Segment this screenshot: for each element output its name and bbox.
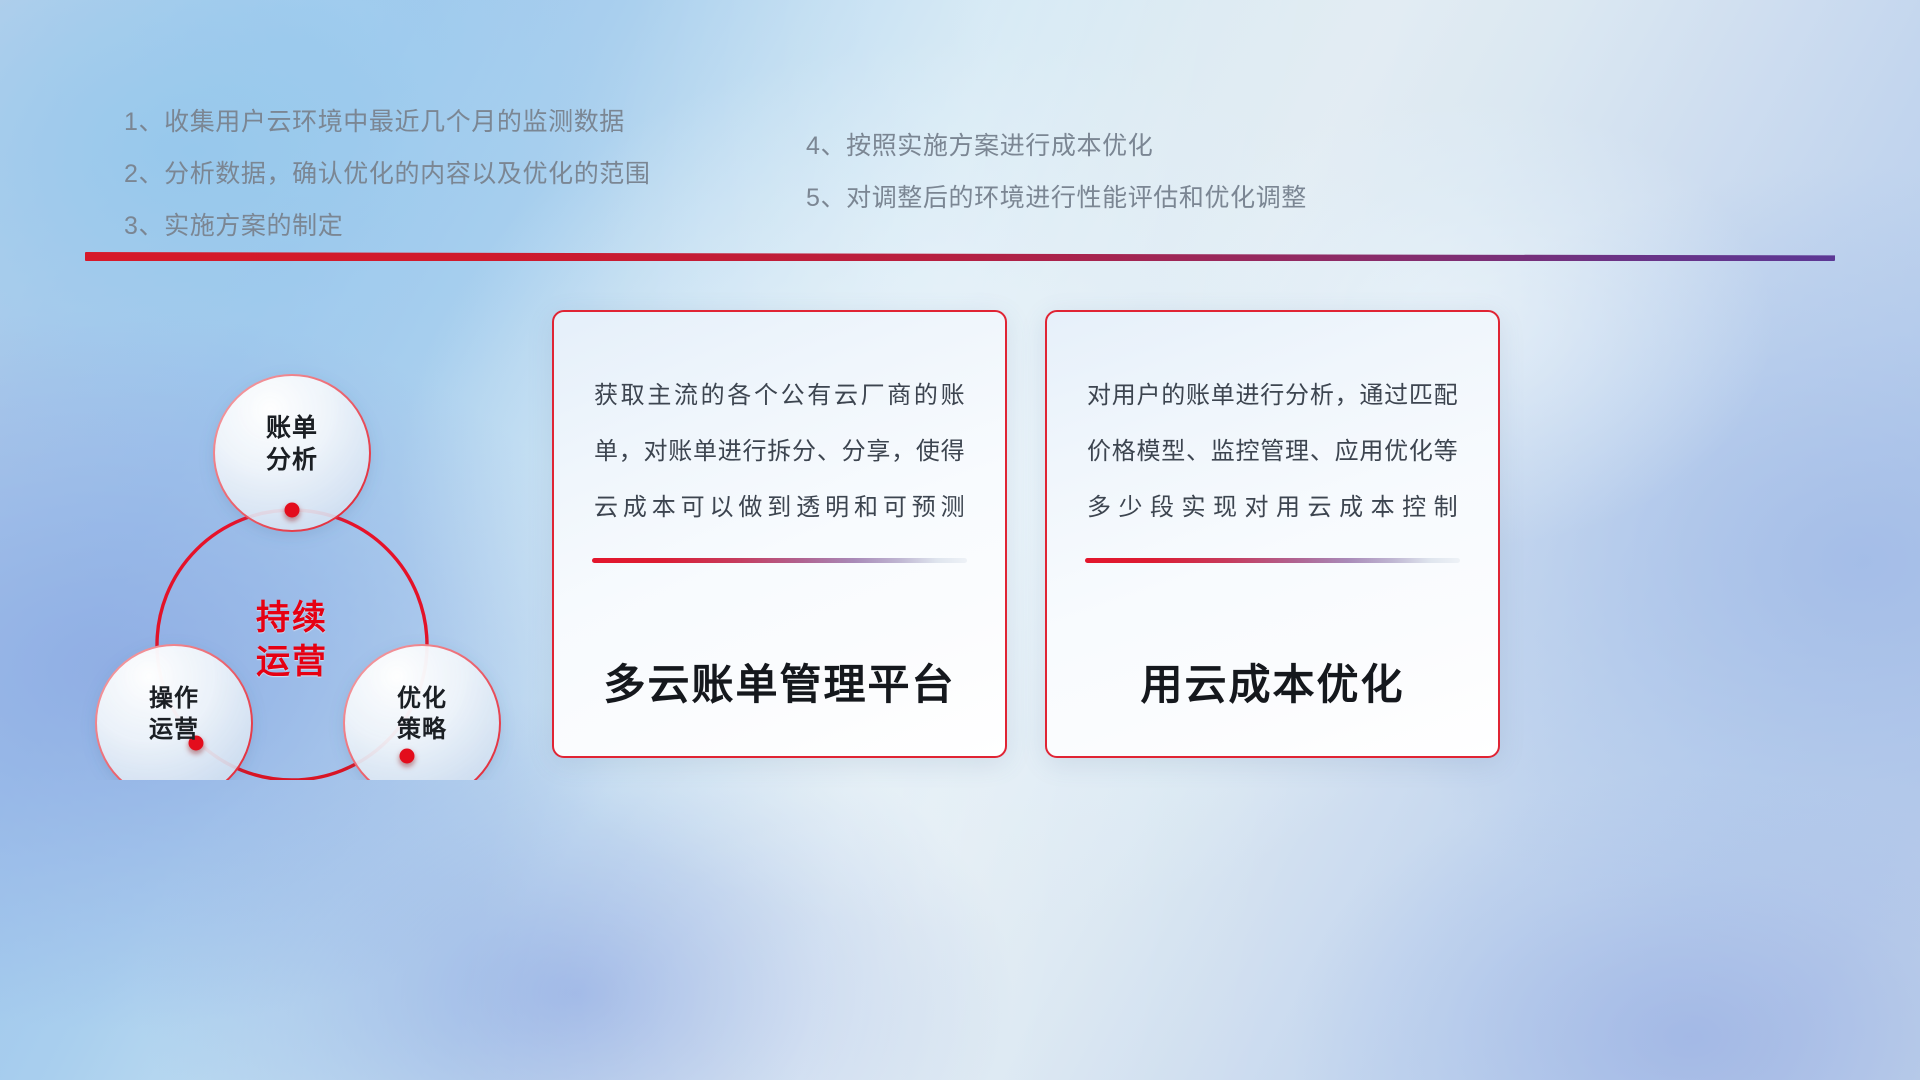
card-accent-rule — [592, 558, 967, 563]
bullet-list-left: 1、收集用户云环境中最近几个月的监测数据 2、分析数据，确认优化的内容以及优化的… — [124, 96, 784, 252]
feature-card-billing-platform[interactable]: 获取主流的各个公有云厂商的账单，对账单进行拆分、分享，使得云成本可以做到透明和可… — [552, 310, 1007, 758]
card-accent-rule — [1085, 558, 1460, 563]
card-title: 用云成本优化 — [1081, 651, 1464, 756]
divider-bar — [85, 252, 1835, 261]
card-title: 多云账单管理平台 — [588, 651, 971, 756]
venn-bubble-bottom-left — [96, 645, 252, 780]
bullet-item: 3、实施方案的制定 — [124, 200, 784, 252]
venn-svg — [70, 280, 550, 780]
venn-diagram: 账单 分析 操作 运营 优化 策略 持续 运营 — [70, 280, 550, 780]
venn-node-dot-top — [285, 503, 300, 518]
bullet-item: 1、收集用户云环境中最近几个月的监测数据 — [124, 96, 784, 148]
venn-bubble-bottom-right — [344, 645, 500, 780]
bullet-item: 2、分析数据，确认优化的内容以及优化的范围 — [124, 148, 784, 200]
bullet-list-right: 4、按照实施方案进行成本优化 5、对调整后的环境进行性能评估和优化调整 — [806, 120, 1486, 224]
feature-card-cost-optimization[interactable]: 对用户的账单进行分析，通过匹配价格模型、监控管理、应用优化等多少段实现对用云成本… — [1045, 310, 1500, 758]
bullet-item: 5、对调整后的环境进行性能评估和优化调整 — [806, 172, 1486, 224]
section-divider — [85, 252, 1835, 261]
bullet-item: 4、按照实施方案进行成本优化 — [806, 120, 1486, 172]
venn-node-dot-bottom-right — [400, 749, 415, 764]
card-body-text: 对用户的账单进行分析，通过匹配价格模型、监控管理、应用优化等多少段实现对用云成本… — [1081, 368, 1464, 536]
venn-node-dot-bottom-left — [189, 736, 204, 751]
card-body-text: 获取主流的各个公有云厂商的账单，对账单进行拆分、分享，使得云成本可以做到透明和可… — [588, 368, 971, 536]
